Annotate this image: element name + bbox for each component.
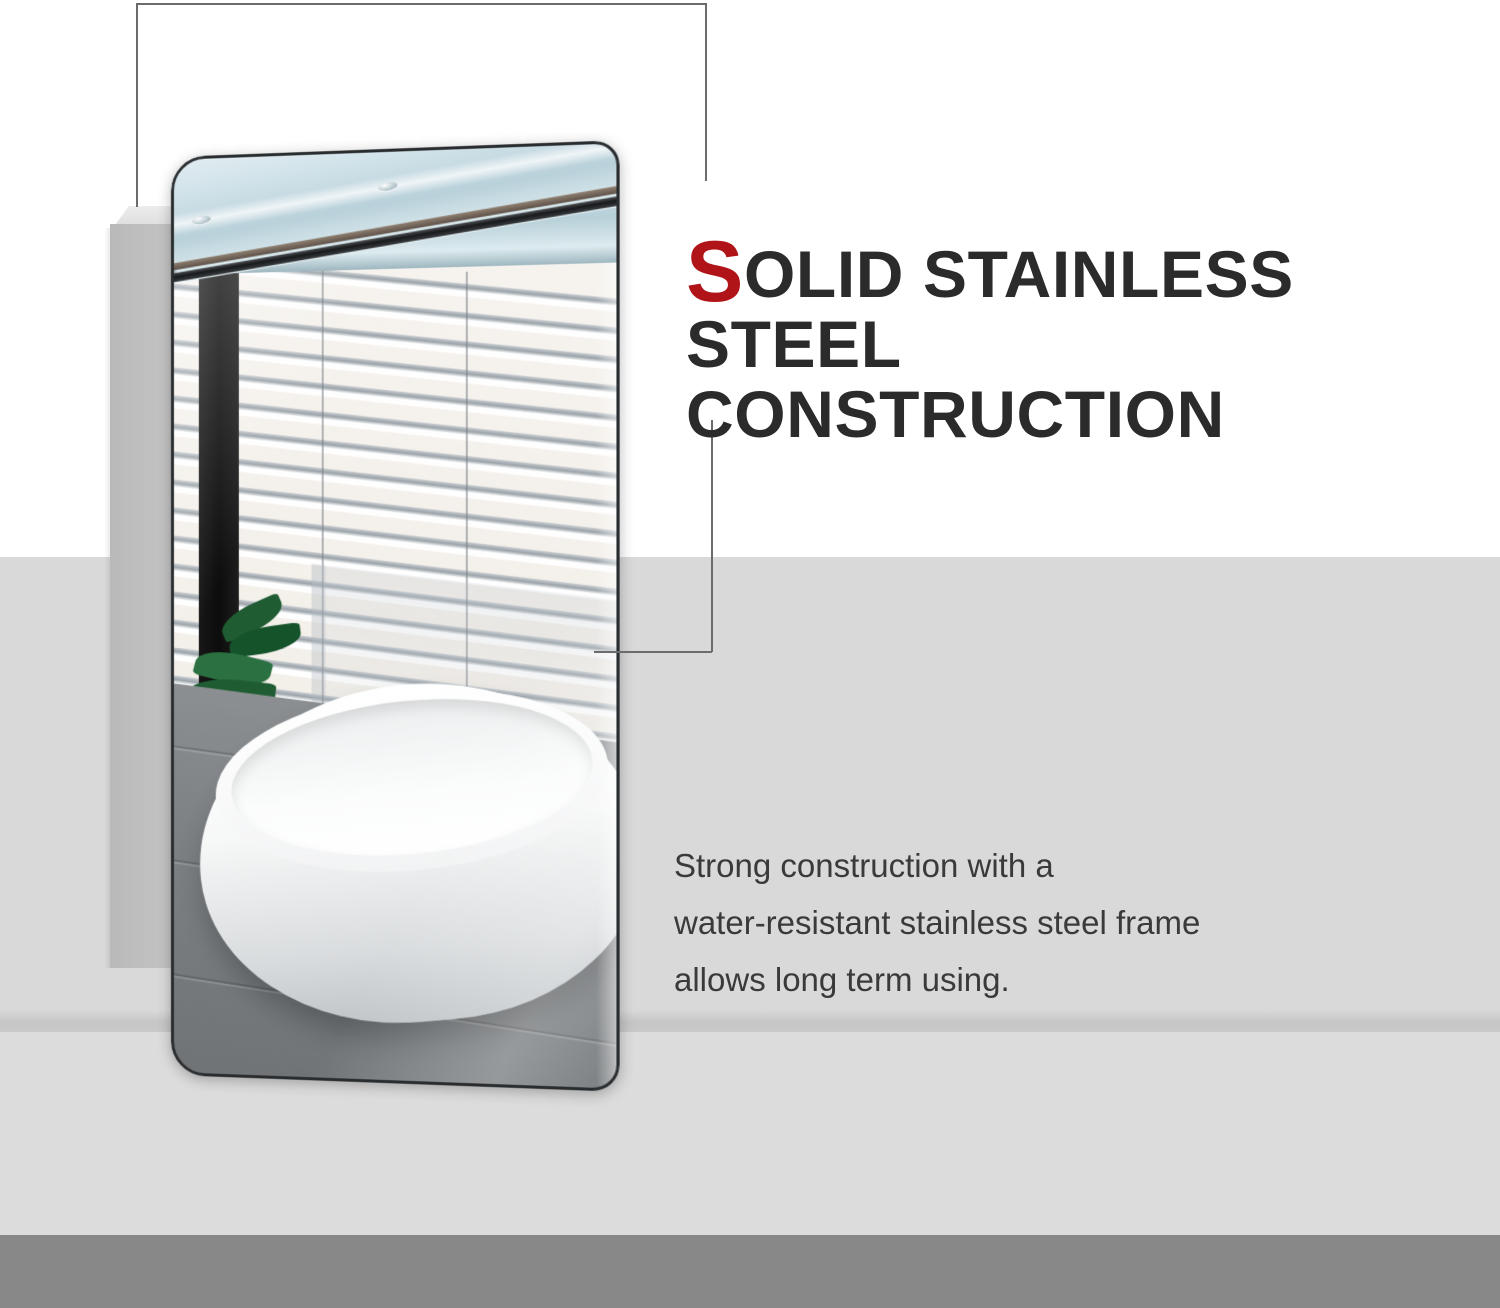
headline-line2: STEEL CONSTRUCTION — [686, 307, 1225, 451]
callout-bottom-bracket-crossbar — [594, 651, 712, 653]
mirror-bevel-edge — [596, 240, 619, 1092]
headline-line1-rest: OLID STAINLESS — [744, 237, 1294, 311]
callout-top-bracket-right-stem — [705, 3, 707, 181]
page-title: SOLID STAINLESSSTEEL CONSTRUCTION — [686, 240, 1456, 450]
bathroom-reflection-scene — [171, 240, 620, 1092]
headline-drop-cap: S — [686, 224, 744, 320]
bodycopy-line1: Strong construction with a — [674, 847, 1054, 884]
callout-top-bracket-crossbar — [136, 3, 706, 5]
callout-top-bracket-left-stem — [136, 3, 138, 207]
product-illustration — [0, 0, 660, 1120]
callout-bottom-bracket-stem — [711, 420, 713, 652]
bodycopy-line3: allows long term using. — [674, 961, 1010, 998]
background-band-footer — [0, 1235, 1500, 1308]
mirror-door — [171, 140, 620, 1092]
bodycopy-line2: water-resistant stainless steel frame — [674, 904, 1200, 941]
marketing-feature-panel: SOLID STAINLESSSTEEL CONSTRUCTION Strong… — [0, 0, 1500, 1308]
feature-description: Strong construction with awater-resistan… — [674, 838, 1434, 1008]
